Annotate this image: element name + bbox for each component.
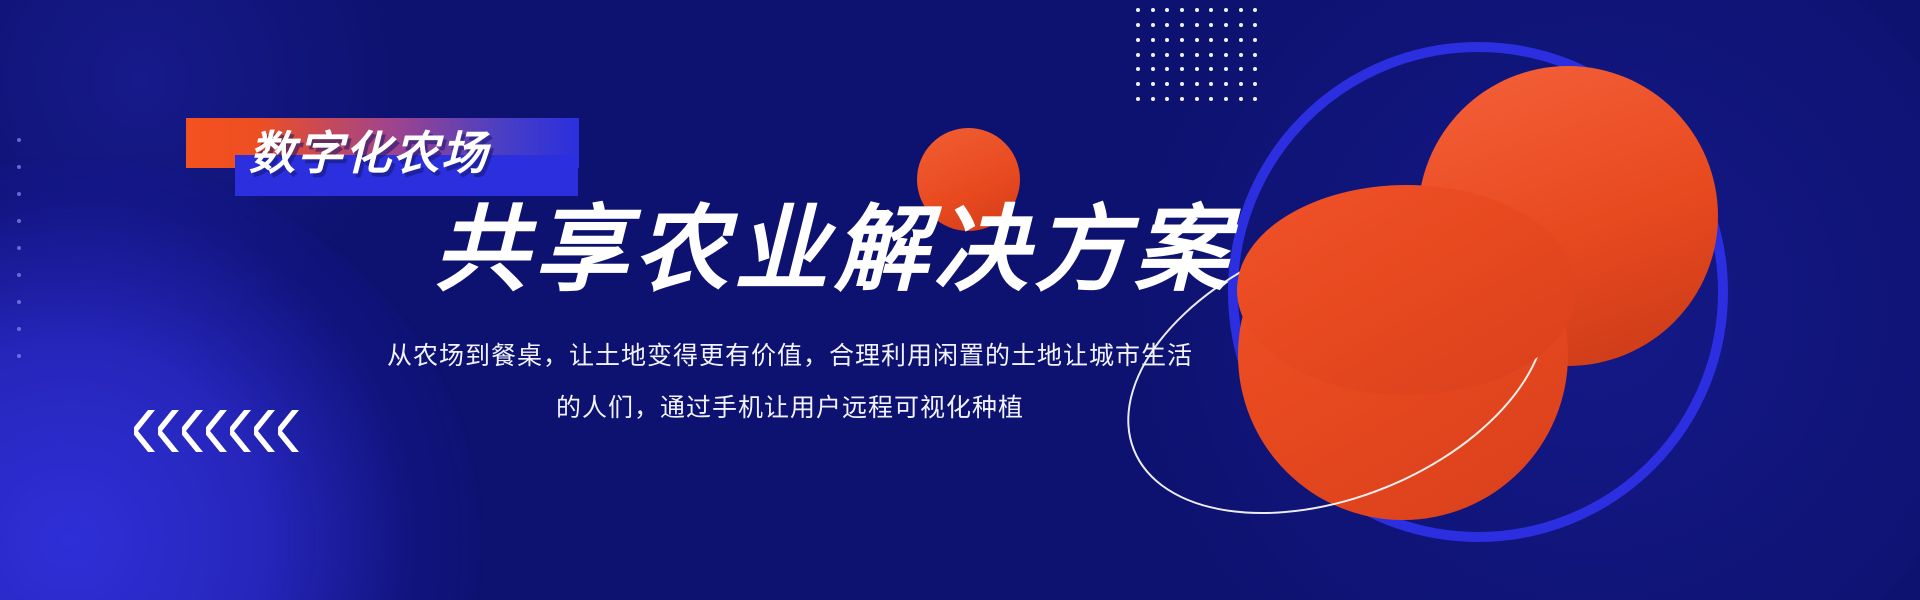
grid-dot-icon — [1165, 67, 1169, 71]
grid-dot-icon — [1136, 8, 1140, 12]
column-dot-icon — [17, 138, 21, 142]
grid-dot-icon — [1224, 23, 1228, 27]
grid-dot-icon — [1253, 38, 1257, 42]
grid-dot-icon — [1195, 53, 1199, 57]
left-dot-column-decoration — [17, 138, 21, 358]
grid-dot-icon — [1165, 38, 1169, 42]
column-dot-icon — [17, 327, 21, 331]
grid-dot-icon — [1239, 82, 1243, 86]
chevron-left-icon — [254, 408, 278, 454]
grid-dot-icon — [1165, 23, 1169, 27]
subtitle: 从农场到餐桌，让土地变得更有价值，合理利用闲置的土地让城市生活 的人们，通过手机… — [360, 330, 1220, 434]
column-dot-icon — [17, 246, 21, 250]
grid-dot-icon — [1151, 67, 1155, 71]
grid-dot-icon — [1253, 53, 1257, 57]
grid-dot-icon — [1195, 67, 1199, 71]
grid-dot-icon — [1209, 53, 1213, 57]
grid-dot-icon — [1165, 82, 1169, 86]
grid-dot-icon — [1180, 53, 1184, 57]
grid-dot-icon — [1136, 82, 1140, 86]
grid-dot-icon — [1195, 97, 1199, 101]
grid-dot-icon — [1253, 82, 1257, 86]
dot-grid-decoration — [1136, 8, 1268, 112]
grid-dot-icon — [1209, 8, 1213, 12]
grid-dot-icon — [1239, 8, 1243, 12]
column-dot-icon — [17, 273, 21, 277]
grid-dot-icon — [1224, 97, 1228, 101]
grid-dot-icon — [1136, 53, 1140, 57]
column-dot-icon — [17, 219, 21, 223]
grid-dot-icon — [1151, 82, 1155, 86]
badge: 数字化农场 — [186, 118, 586, 196]
grid-dot-icon — [1165, 53, 1169, 57]
grid-dot-icon — [1180, 23, 1184, 27]
grid-dot-icon — [1136, 38, 1140, 42]
grid-dot-icon — [1253, 8, 1257, 12]
grid-dot-icon — [1195, 23, 1199, 27]
grid-dot-icon — [1209, 67, 1213, 71]
chevron-arrows-decoration — [134, 408, 302, 454]
grid-dot-icon — [1165, 8, 1169, 12]
grid-dot-icon — [1180, 38, 1184, 42]
grid-dot-icon — [1180, 67, 1184, 71]
grid-dot-icon — [1136, 23, 1140, 27]
grid-dot-icon — [1224, 82, 1228, 86]
grid-dot-icon — [1136, 97, 1140, 101]
grid-dot-icon — [1165, 97, 1169, 101]
grid-dot-icon — [1253, 23, 1257, 27]
grid-dot-icon — [1151, 23, 1155, 27]
grid-dot-icon — [1195, 38, 1199, 42]
grid-dot-icon — [1239, 97, 1243, 101]
column-dot-icon — [17, 192, 21, 196]
column-dot-icon — [17, 165, 21, 169]
grid-dot-icon — [1209, 82, 1213, 86]
badge-label: 数字化农场 — [249, 130, 489, 176]
grid-dot-icon — [1151, 38, 1155, 42]
chevron-left-icon — [206, 408, 230, 454]
grid-dot-icon — [1224, 38, 1228, 42]
grid-dot-icon — [1136, 67, 1140, 71]
grid-dot-icon — [1195, 82, 1199, 86]
chevron-left-icon — [158, 408, 182, 454]
grid-dot-icon — [1224, 8, 1228, 12]
grid-dot-icon — [1224, 67, 1228, 71]
chevron-left-icon — [134, 408, 158, 454]
chevron-left-icon — [230, 408, 254, 454]
grid-dot-icon — [1253, 97, 1257, 101]
grid-dot-icon — [1151, 53, 1155, 57]
grid-dot-icon — [1151, 97, 1155, 101]
grid-dot-icon — [1151, 8, 1155, 12]
grid-dot-icon — [1195, 8, 1199, 12]
column-dot-icon — [17, 300, 21, 304]
hero-banner: 数字化农场 共享农业解决方案 从农场到餐桌，让土地变得更有价值，合理利用闲置的土… — [0, 0, 1920, 600]
grid-dot-icon — [1209, 23, 1213, 27]
grid-dot-icon — [1180, 82, 1184, 86]
grid-dot-icon — [1253, 67, 1257, 71]
grid-dot-icon — [1180, 8, 1184, 12]
grid-dot-icon — [1224, 53, 1228, 57]
chevron-left-icon — [182, 408, 206, 454]
grid-dot-icon — [1239, 53, 1243, 57]
grid-dot-icon — [1209, 38, 1213, 42]
column-dot-icon — [17, 354, 21, 358]
page-title: 共享农业解决方案 — [434, 196, 1234, 304]
grid-dot-icon — [1239, 38, 1243, 42]
grid-dot-icon — [1209, 97, 1213, 101]
grid-dot-icon — [1180, 97, 1184, 101]
grid-dot-icon — [1239, 23, 1243, 27]
orbit-overlap-mask — [1237, 185, 1577, 395]
subtitle-line-2: 的人们，通过手机让用户远程可视化种植 — [360, 382, 1220, 434]
chevron-left-icon — [278, 408, 302, 454]
subtitle-line-1: 从农场到餐桌，让土地变得更有价值，合理利用闲置的土地让城市生活 — [360, 330, 1220, 382]
grid-dot-icon — [1239, 67, 1243, 71]
